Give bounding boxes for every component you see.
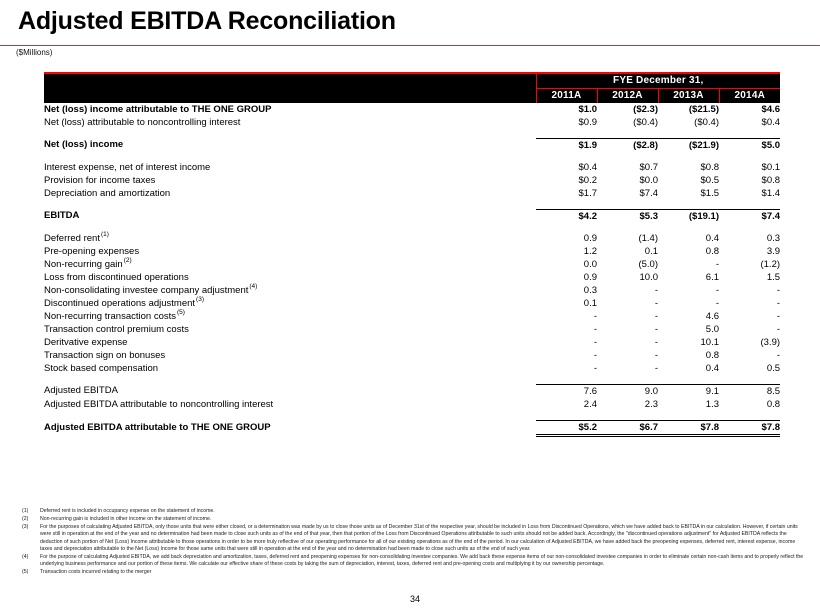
row-value-col-2: 10.0 — [597, 271, 658, 284]
row-value-col-3: - — [658, 297, 719, 310]
footnote-item: (5)Transaction costs incurred relating t… — [16, 569, 808, 576]
header-spacer-cell — [44, 74, 536, 89]
row-value-col-4: - — [719, 310, 780, 323]
table-body: Net (loss) income attributable to THE ON… — [44, 103, 780, 436]
row-value-col-1: 0.3 — [536, 284, 597, 297]
row-value-col-2: ($2.3) — [597, 103, 658, 116]
column-header-year-2: 2012A — [597, 88, 658, 103]
header-group-label: FYE December 31, — [536, 74, 780, 89]
row-value-col-1: $1.7 — [536, 187, 597, 200]
column-header-year-4: 2014A — [719, 88, 780, 103]
row-value-col-4: $5.0 — [719, 138, 780, 152]
row-value-col-2: $6.7 — [597, 420, 658, 435]
row-label: Interest expense, net of interest income — [44, 161, 536, 174]
footnote-mark: (5) — [16, 569, 40, 576]
row-value-col-2: - — [597, 297, 658, 310]
row-value-col-2: 9.0 — [597, 384, 658, 398]
table-header-years-row: 2011A 2012A 2013A 2014A — [44, 88, 780, 103]
table-row: Transaction control premium costs--5.0- — [44, 323, 780, 336]
row-label: Deritvative expense — [44, 336, 536, 349]
row-value-col-3: ($0.4) — [658, 116, 719, 129]
units-label: ($Millions) — [16, 48, 52, 58]
row-label: Adjusted EBITDA attributable to noncontr… — [44, 398, 536, 411]
table-row: Provision for income taxes$0.2$0.0$0.5$0… — [44, 174, 780, 187]
table-row-spacer — [44, 411, 780, 421]
row-label: Discontinued operations adjustment(3) — [44, 297, 536, 310]
row-value-col-4: 0.3 — [719, 232, 780, 245]
column-header-year-3: 2013A — [658, 88, 719, 103]
row-value-col-3: 5.0 — [658, 323, 719, 336]
table-row: Non-recurring gain(2)0.0(5.0)-(1.2) — [44, 258, 780, 271]
row-value-col-1: - — [536, 323, 597, 336]
table-row: Discontinued operations adjustment(3)0.1… — [44, 297, 780, 310]
row-value-col-3: ($21.5) — [658, 103, 719, 116]
footnote-marker: (5) — [176, 309, 185, 316]
row-label: Loss from discontinued operations — [44, 271, 536, 284]
row-value-col-2: - — [597, 336, 658, 349]
table-row: Net (loss) income attributable to THE ON… — [44, 103, 780, 116]
footnote-text: For the purposes of calculating Adjusted… — [40, 524, 808, 554]
page-title: Adjusted EBITDA Reconciliation — [18, 6, 396, 36]
row-value-col-4: $0.1 — [719, 161, 780, 174]
column-header-year-1: 2011A — [536, 88, 597, 103]
footnote-marker: (3) — [195, 296, 204, 303]
row-value-col-1: - — [536, 336, 597, 349]
footnote-mark: (3) — [16, 524, 40, 531]
row-value-col-4: $0.4 — [719, 116, 780, 129]
table-row: Net (loss) attributable to noncontrollin… — [44, 116, 780, 129]
table-head: FYE December 31, 2011A 2012A 2013A 2014A — [44, 74, 780, 103]
row-value-col-1: 2.4 — [536, 398, 597, 411]
row-value-col-4: - — [719, 349, 780, 362]
footnote-text: Deferred rent is included in occupancy e… — [40, 508, 808, 515]
table-row: EBITDA$4.2$5.3($19.1)$7.4 — [44, 209, 780, 223]
row-value-col-1: $0.2 — [536, 174, 597, 187]
row-value-col-4: $0.8 — [719, 174, 780, 187]
row-value-col-4: 1.5 — [719, 271, 780, 284]
page-number: 34 — [400, 594, 430, 604]
row-value-col-2: ($0.4) — [597, 116, 658, 129]
table-row-spacer — [44, 223, 780, 232]
table-row: Non-consolidating investee company adjus… — [44, 284, 780, 297]
row-value-col-4: - — [719, 297, 780, 310]
row-value-col-1: $1.0 — [536, 103, 597, 116]
row-value-col-2: - — [597, 323, 658, 336]
row-value-col-2: (1.4) — [597, 232, 658, 245]
row-label: Net (loss) attributable to noncontrollin… — [44, 116, 536, 129]
row-label: Depreciation and amortization — [44, 187, 536, 200]
row-value-col-2: 0.1 — [597, 245, 658, 258]
row-value-col-3: 10.1 — [658, 336, 719, 349]
row-value-col-4: $7.8 — [719, 420, 780, 435]
row-value-col-2: - — [597, 349, 658, 362]
table-header-group-row: FYE December 31, — [44, 74, 780, 89]
row-value-col-4: 0.5 — [719, 362, 780, 375]
row-value-col-3: 0.8 — [658, 245, 719, 258]
row-value-col-1: $0.4 — [536, 161, 597, 174]
footnote-item: (2)Non-recurring gain is included in oth… — [16, 516, 808, 523]
row-value-col-3: $0.8 — [658, 161, 719, 174]
row-value-col-2: - — [597, 310, 658, 323]
row-value-col-3: - — [658, 258, 719, 271]
row-value-col-1: $1.9 — [536, 138, 597, 152]
row-label: Stock based compensation — [44, 362, 536, 375]
header-spacer-cell-2 — [44, 88, 536, 103]
row-value-col-3: 9.1 — [658, 384, 719, 398]
row-value-col-4: (3.9) — [719, 336, 780, 349]
row-value-col-2: $0.7 — [597, 161, 658, 174]
row-value-col-4: $7.4 — [719, 209, 780, 223]
row-value-col-3: 0.4 — [658, 362, 719, 375]
row-value-col-2: $5.3 — [597, 209, 658, 223]
table-row-spacer — [44, 152, 780, 161]
title-divider — [0, 45, 820, 46]
row-value-col-3: 1.3 — [658, 398, 719, 411]
row-value-col-2: ($2.8) — [597, 138, 658, 152]
table-row: Deritvative expense--10.1(3.9) — [44, 336, 780, 349]
row-value-col-3: ($21.9) — [658, 138, 719, 152]
financial-table: FYE December 31, 2011A 2012A 2013A 2014A… — [44, 74, 780, 437]
ebitda-reconciliation-table: FYE December 31, 2011A 2012A 2013A 2014A… — [44, 72, 780, 437]
table-row-spacer — [44, 129, 780, 139]
row-value-col-1: - — [536, 362, 597, 375]
row-label: Deferred rent(1) — [44, 232, 536, 245]
table-row: Adjusted EBITDA attributable to THE ONE … — [44, 420, 780, 435]
row-label: Non-consolidating investee company adjus… — [44, 284, 536, 297]
table-row: Loss from discontinued operations0.910.0… — [44, 271, 780, 284]
row-label: Net (loss) income attributable to THE ON… — [44, 103, 536, 116]
row-value-col-2: 2.3 — [597, 398, 658, 411]
footnote-text: Transaction costs incurred relating to t… — [40, 569, 808, 576]
footnote-item: (3)For the purposes of calculating Adjus… — [16, 524, 808, 554]
row-value-col-4: (1.2) — [719, 258, 780, 271]
footnote-marker: (2) — [123, 257, 132, 264]
table-row: Transaction sign on bonuses--0.8- — [44, 349, 780, 362]
row-value-col-4: $4.6 — [719, 103, 780, 116]
row-value-col-1: - — [536, 310, 597, 323]
row-value-col-4: 3.9 — [719, 245, 780, 258]
row-value-col-3: 0.4 — [658, 232, 719, 245]
footnote-mark: (2) — [16, 516, 40, 523]
row-value-col-1: 0.9 — [536, 271, 597, 284]
table-row: Adjusted EBITDA attributable to noncontr… — [44, 398, 780, 411]
table-row: Stock based compensation--0.40.5 — [44, 362, 780, 375]
table-row: Deferred rent(1)0.9(1.4)0.40.3 — [44, 232, 780, 245]
row-value-col-4: - — [719, 284, 780, 297]
row-value-col-4: $1.4 — [719, 187, 780, 200]
row-label: Adjusted EBITDA attributable to THE ONE … — [44, 420, 536, 435]
row-label: EBITDA — [44, 209, 536, 223]
table-row: Interest expense, net of interest income… — [44, 161, 780, 174]
row-value-col-2: (5.0) — [597, 258, 658, 271]
table-row: Non-recurring transaction costs(5)--4.6- — [44, 310, 780, 323]
row-label: Non-recurring transaction costs(5) — [44, 310, 536, 323]
footnote-text: Non-recurring gain is included in other … — [40, 516, 808, 523]
table-row-spacer — [44, 200, 780, 210]
row-value-col-1: 7.6 — [536, 384, 597, 398]
row-value-col-4: - — [719, 323, 780, 336]
row-value-col-3: $0.5 — [658, 174, 719, 187]
row-value-col-3: 6.1 — [658, 271, 719, 284]
row-value-col-1: $0.9 — [536, 116, 597, 129]
table-row: Net (loss) income$1.9($2.8)($21.9)$5.0 — [44, 138, 780, 152]
row-value-col-4: 0.8 — [719, 398, 780, 411]
footnote-item: (1)Deferred rent is included in occupanc… — [16, 508, 808, 515]
row-value-col-1: 0.0 — [536, 258, 597, 271]
table-row: Pre-opening expenses1.20.10.83.9 — [44, 245, 780, 258]
row-value-col-2: $0.0 — [597, 174, 658, 187]
row-label: Adjusted EBITDA — [44, 384, 536, 398]
footnote-text: For the purpose of calculating Adjusted … — [40, 554, 808, 569]
footnote-marker: (1) — [100, 231, 109, 238]
footnotes-block: (1)Deferred rent is included in occupanc… — [16, 508, 808, 577]
row-value-col-1: $5.2 — [536, 420, 597, 435]
row-label: Non-recurring gain(2) — [44, 258, 536, 271]
row-value-col-1: - — [536, 349, 597, 362]
row-label: Transaction control premium costs — [44, 323, 536, 336]
row-value-col-1: 0.1 — [536, 297, 597, 310]
row-label: Transaction sign on bonuses — [44, 349, 536, 362]
footnote-mark: (1) — [16, 508, 40, 515]
row-label: Net (loss) income — [44, 138, 536, 152]
table-row: Depreciation and amortization$1.7$7.4$1.… — [44, 187, 780, 200]
row-value-col-2: - — [597, 362, 658, 375]
row-label: Pre-opening expenses — [44, 245, 536, 258]
row-value-col-4: 8.5 — [719, 384, 780, 398]
row-value-col-3: - — [658, 284, 719, 297]
row-value-col-3: 0.8 — [658, 349, 719, 362]
row-value-col-2: - — [597, 284, 658, 297]
footnote-item: (4)For the purpose of calculating Adjust… — [16, 554, 808, 569]
row-value-col-1: 0.9 — [536, 232, 597, 245]
row-value-col-3: 4.6 — [658, 310, 719, 323]
table-row: Adjusted EBITDA7.69.09.18.5 — [44, 384, 780, 398]
row-value-col-1: 1.2 — [536, 245, 597, 258]
row-label: Provision for income taxes — [44, 174, 536, 187]
footnote-marker: (4) — [248, 283, 257, 290]
row-value-col-3: $1.5 — [658, 187, 719, 200]
row-value-col-3: ($19.1) — [658, 209, 719, 223]
row-value-col-1: $4.2 — [536, 209, 597, 223]
row-value-col-3: $7.8 — [658, 420, 719, 435]
table-row-spacer — [44, 375, 780, 385]
footnote-mark: (4) — [16, 554, 40, 561]
row-value-col-2: $7.4 — [597, 187, 658, 200]
